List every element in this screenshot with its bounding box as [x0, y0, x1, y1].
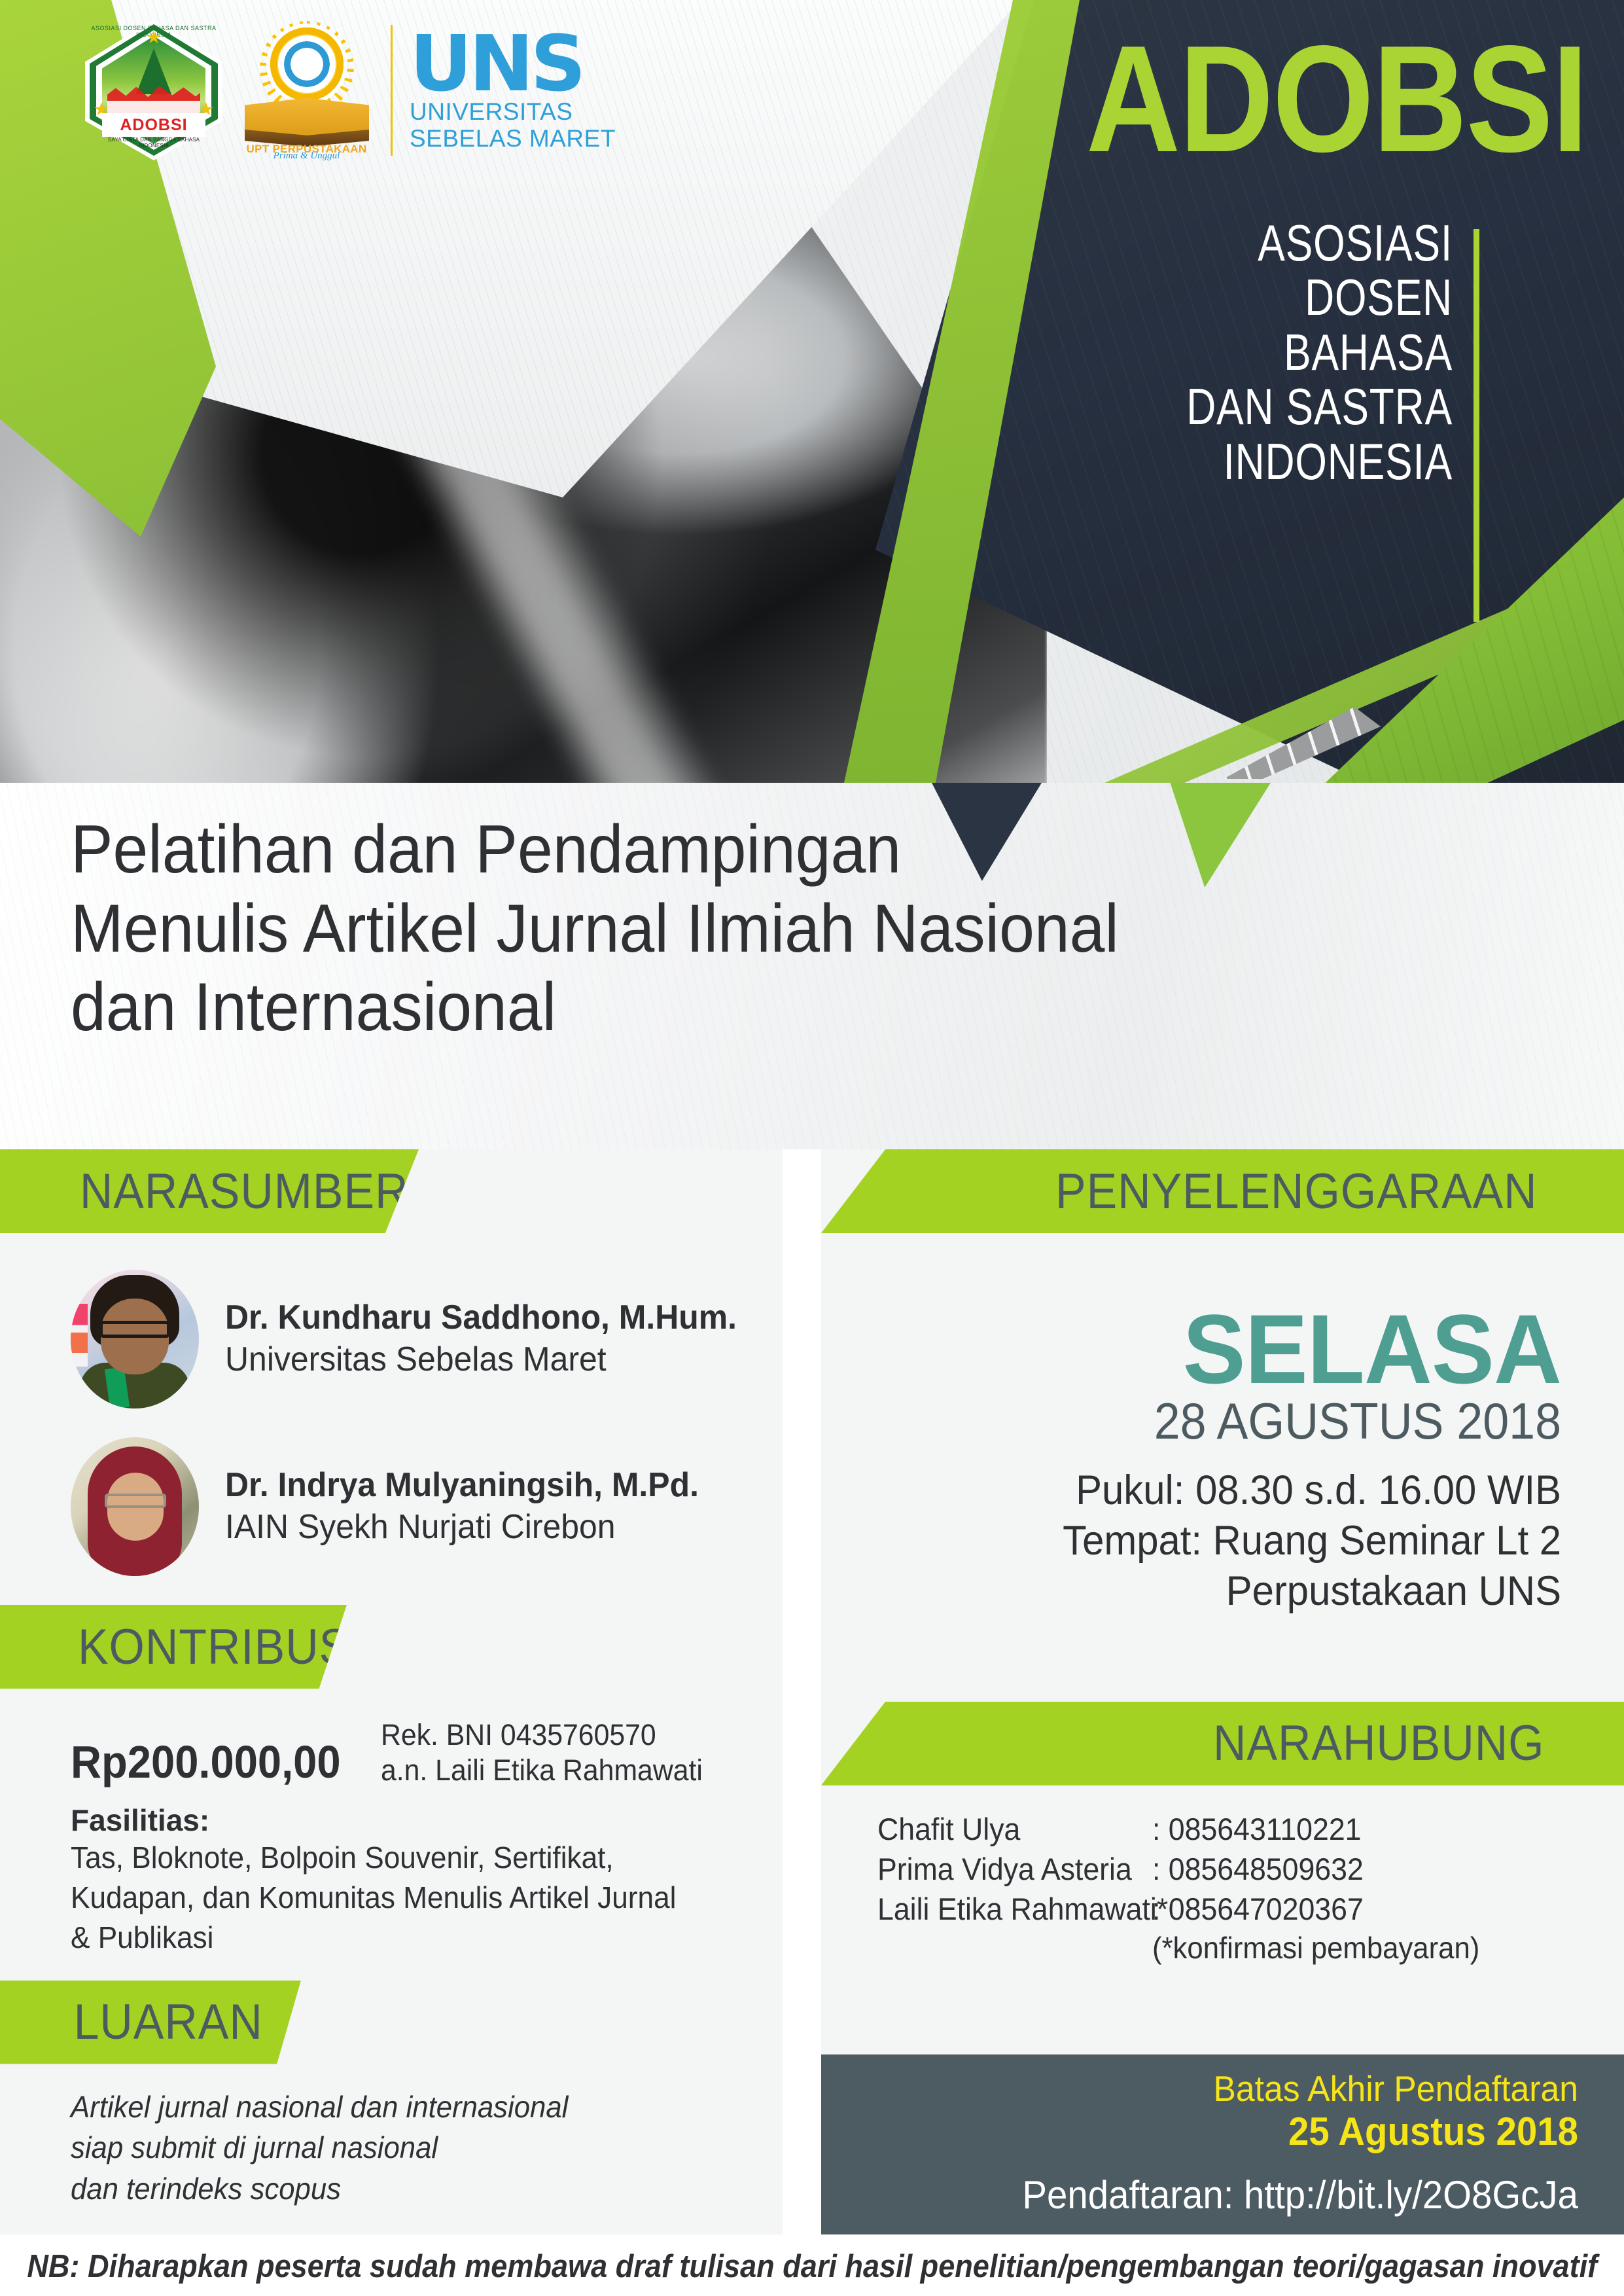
event-venue-line-1: Tempat: Ruang Seminar Lt 2 [858, 1516, 1561, 1566]
poster: ASOSIASI DOSEN BAHASA DAN SASTRA INDONES… [0, 0, 1624, 2296]
header-banner: ASOSIASI DOSEN BAHASA DAN SASTRA INDONES… [0, 0, 1624, 783]
section-heading-narasumber: NARASUMBER [0, 1149, 419, 1233]
bank-account-line-2: a.n. Laili Etika Rahmawati [381, 1753, 703, 1788]
adobsi-logo-icon: ASOSIASI DOSEN BAHASA DAN SASTRA INDONES… [85, 20, 222, 160]
brand-subtitle-line-5: INDONESIA [1159, 435, 1453, 489]
registration-box: Batas Akhir Pendaftaran 25 Agustus 2018 … [821, 2054, 1624, 2234]
event-day: SELASA [851, 1305, 1561, 1393]
luaran-heading-label: LUARAN [74, 1994, 263, 2051]
contact-list: Chafit Ulya : 085643110221 Prima Vidya A… [821, 1785, 1624, 1968]
brand-subtitle-line-4: DAN SASTRA [1159, 380, 1453, 434]
uns-logo-mark: UNS [410, 28, 626, 99]
brand-subtitle-line-2: DOSEN [1159, 270, 1453, 325]
section-heading-kontribusi: KONTRIBUSI [0, 1605, 347, 1689]
uns-logo-line1: UNIVERSITAS [410, 99, 626, 126]
brand-subtitle: ASOSIASI DOSEN BAHASA DAN SASTRA INDONES… [1086, 216, 1453, 489]
contact-name: Chafit Ulya [877, 1809, 1139, 1849]
kontribusi-body: Rp200.000,00 Rek. BNI 0435760570 a.n. La… [0, 1689, 783, 1958]
speaker-name: Dr. Kundharu Saddhono, M.Hum. [225, 1297, 737, 1338]
left-column: NARASUMBER Dr. Kundharu Saddhono, M.Hum.… [0, 1149, 783, 2234]
speaker-item: Dr. Indrya Mulyaningsih, M.Pd. IAIN Syek… [0, 1437, 783, 1605]
narahubung-heading-label: NARAHUBUNG [1213, 1715, 1544, 1772]
speaker-item: Dr. Kundharu Saddhono, M.Hum. Universita… [0, 1270, 783, 1437]
logo-group: ASOSIASI DOSEN BAHASA DAN SASTRA INDONES… [85, 20, 626, 160]
contact-item: Chafit Ulya : 085643110221 [877, 1809, 1624, 1849]
section-heading-penyelenggaraan: PENYELENGGARAAN [821, 1149, 1624, 1233]
speaker-list: Dr. Kundharu Saddhono, M.Hum. Universita… [0, 1233, 783, 1605]
section-heading-luaran: LUARAN [0, 1981, 301, 2064]
contact-name: Laili Etika Rahmawati* [877, 1889, 1139, 1929]
brand-accent-rule [1474, 229, 1479, 622]
kontribusi-heading-label: KONTRIBUSI [78, 1619, 364, 1676]
speaker-name: Dr. Indrya Mulyaningsih, M.Pd. [225, 1465, 699, 1505]
facilities-line-3: & Publikasi [71, 1918, 686, 1958]
page-title: Pelatihan dan Pendampingan Menulis Artik… [71, 810, 1576, 1047]
speaker-avatar [71, 1437, 199, 1576]
contribution-price: Rp200.000,00 [71, 1736, 341, 1788]
contact-phone: : 085647020367 [1152, 1889, 1364, 1929]
speaker-affiliation: Universitas Sebelas Maret [225, 1338, 737, 1381]
event-venue-line-2: Perpustakaan UNS [858, 1566, 1561, 1617]
registration-deadline-label: Batas Akhir Pendaftaran [866, 2069, 1578, 2109]
logo-divider [391, 25, 393, 156]
uns-logo-line2: SEBELAS MARET [410, 126, 626, 152]
registration-link[interactable]: Pendaftaran: http://bit.ly/2O8GcJa [866, 2173, 1578, 2217]
page-title-line-1: Pelatihan dan Pendampingan [71, 810, 1470, 889]
title-band: Pelatihan dan Pendampingan Menulis Artik… [0, 783, 1624, 1149]
section-heading-narahubung: NARAHUBUNG [821, 1702, 1624, 1785]
footnote: NB: Diharapkan peserta sudah membawa dra… [0, 2237, 1624, 2296]
footnote-text: NB: Diharapkan peserta sudah membawa dra… [27, 2248, 1597, 2285]
luaran-body: Artikel jurnal nasional dan internasiona… [0, 2064, 783, 2210]
luaran-line-3: dan terindeks scopus [71, 2168, 680, 2210]
penyelenggaraan-heading-label: PENYELENGGARAAN [1055, 1163, 1538, 1220]
registration-deadline-date: 25 Agustus 2018 [866, 2109, 1578, 2153]
facilities-label: Fasilitias: [71, 1803, 712, 1838]
facilities-line-2: Kudapan, dan Komunitas Menulis Artikel J… [71, 1878, 686, 1918]
brand-subtitle-line-3: BAHASA [1159, 325, 1453, 380]
brand-subtitle-line-1: ASOSIASI [1159, 216, 1453, 270]
upt-perpustakaan-logo-icon: UPT PERPUSTAKAAN Prima & Unggul [239, 20, 374, 160]
event-details: SELASA 28 AGUSTUS 2018 Pukul: 08.30 s.d.… [821, 1233, 1624, 1617]
uns-logo-icon: UNS UNIVERSITAS SEBELAS MARET [410, 28, 626, 152]
speaker-affiliation: IAIN Syekh Nurjati Cirebon [225, 1506, 699, 1549]
adobsi-logo-tagline: SAYA CINTA DAN BANGGA BAHASA INDONESIA [105, 137, 203, 149]
contact-item: Laili Etika Rahmawati* : 085647020367 [877, 1889, 1624, 1929]
contact-phone: : 085648509632 [1152, 1849, 1364, 1889]
page-title-line-3: dan Internasional [71, 968, 1470, 1047]
brand-title: ADOBSI [1086, 33, 1492, 166]
luaran-line-2: siap submit di jurnal nasional [71, 2127, 680, 2168]
facilities-list: Tas, Bloknote, Bolpoin Souvenir, Sertifi… [71, 1838, 712, 1958]
event-date: 28 AGUSTUS 2018 [880, 1393, 1561, 1448]
contact-item: Prima Vidya Asteria : 085648509632 [877, 1849, 1624, 1889]
adobsi-logo-name: ADOBSI [102, 113, 205, 137]
contact-note: (*konfirmasi pembayaran) [1152, 1929, 1600, 1968]
upt-logo-line2: Prima & Unggul [239, 151, 374, 162]
contact-name: Prima Vidya Asteria [877, 1849, 1139, 1889]
facilities-line-1: Tas, Bloknote, Bolpoin Souvenir, Sertifi… [71, 1838, 686, 1878]
speaker-avatar [71, 1270, 199, 1408]
luaran-line-1: Artikel jurnal nasional dan internasiona… [71, 2087, 680, 2128]
page-title-line-2: Menulis Artikel Jurnal Ilmiah Nasional [71, 889, 1470, 969]
event-time: Pukul: 08.30 s.d. 16.00 WIB [858, 1465, 1561, 1516]
contact-phone: : 085643110221 [1152, 1809, 1361, 1849]
brand-title-text: ADOBSI [1086, 33, 1435, 166]
bank-account-line-1: Rek. BNI 0435760570 [381, 1717, 703, 1753]
narasumber-heading-label: NARASUMBER [80, 1163, 409, 1220]
